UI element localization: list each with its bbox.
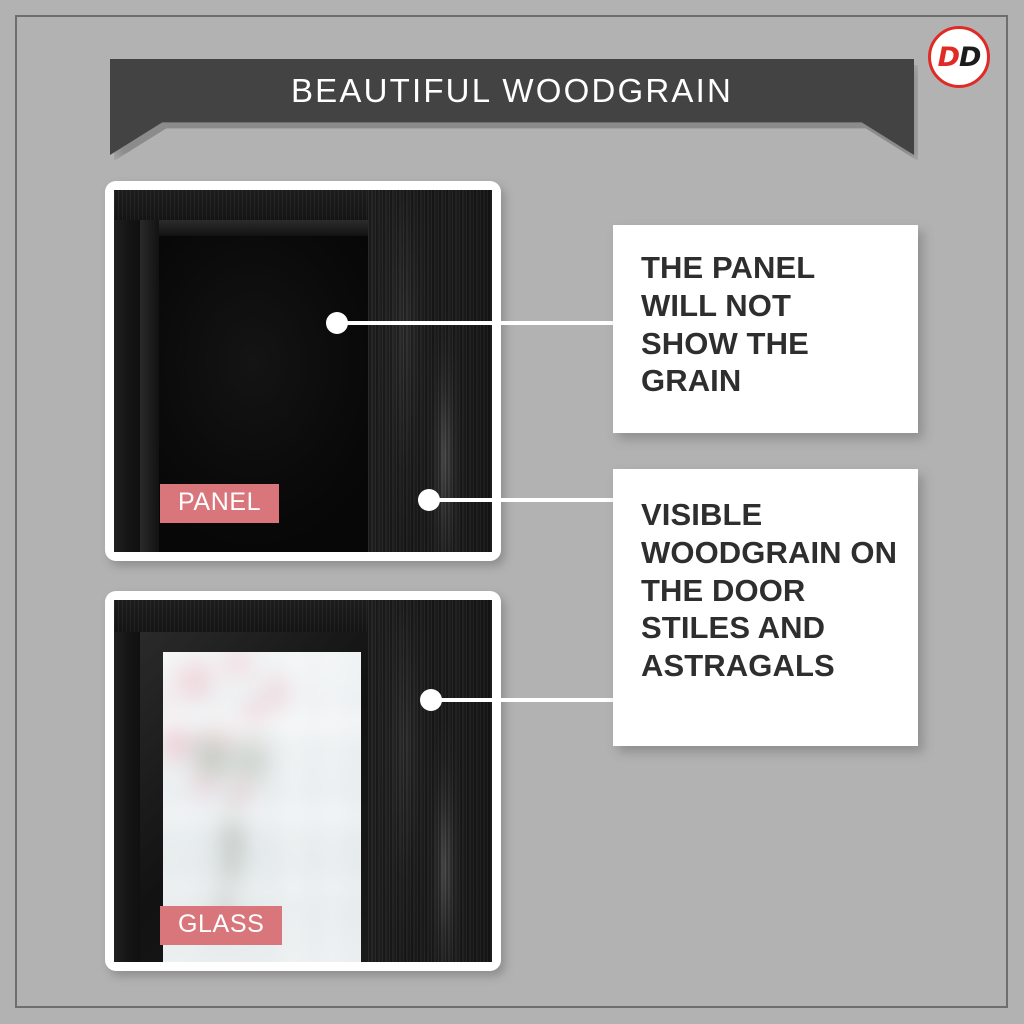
connector-line-stile-top: [429, 498, 619, 502]
glass-label: GLASS: [160, 906, 282, 945]
connector-line-stile-bottom: [431, 698, 619, 702]
callout-visible-woodgrain-text: VISIBLE WOODGRAIN ON THE DOOR STILES AND…: [641, 496, 900, 685]
panel-bevel-top: [140, 220, 368, 236]
door-stile-right-2: [368, 600, 492, 962]
logo-letter-first: D: [938, 42, 959, 73]
callout-visible-woodgrain: VISIBLE WOODGRAIN ON THE DOOR STILES AND…: [613, 469, 918, 746]
door-jamb-left-2: [114, 600, 140, 962]
marker-stile-bottom[interactable]: [420, 689, 442, 711]
callout-panel-grain: THE PANEL WILL NOT SHOW THE GRAIN: [613, 225, 918, 433]
marker-stile-top[interactable]: [418, 489, 440, 511]
logo-letter-second: D: [959, 42, 980, 73]
page-title: BEAUTIFUL WOODGRAIN: [110, 59, 914, 123]
infographic-canvas: DD BEAUTIFUL WOODGRAIN PANEL: [0, 0, 1024, 1024]
connector-line-panel: [337, 321, 619, 325]
dd-logo: DD: [928, 26, 990, 88]
panel-label: PANEL: [160, 484, 279, 523]
marker-panel[interactable]: [326, 312, 348, 334]
title-banner: BEAUTIFUL WOODGRAIN: [110, 59, 914, 159]
callout-panel-grain-text: THE PANEL WILL NOT SHOW THE GRAIN: [641, 249, 896, 400]
panel-bevel-left: [140, 220, 159, 552]
door-jamb-left: [114, 190, 140, 552]
